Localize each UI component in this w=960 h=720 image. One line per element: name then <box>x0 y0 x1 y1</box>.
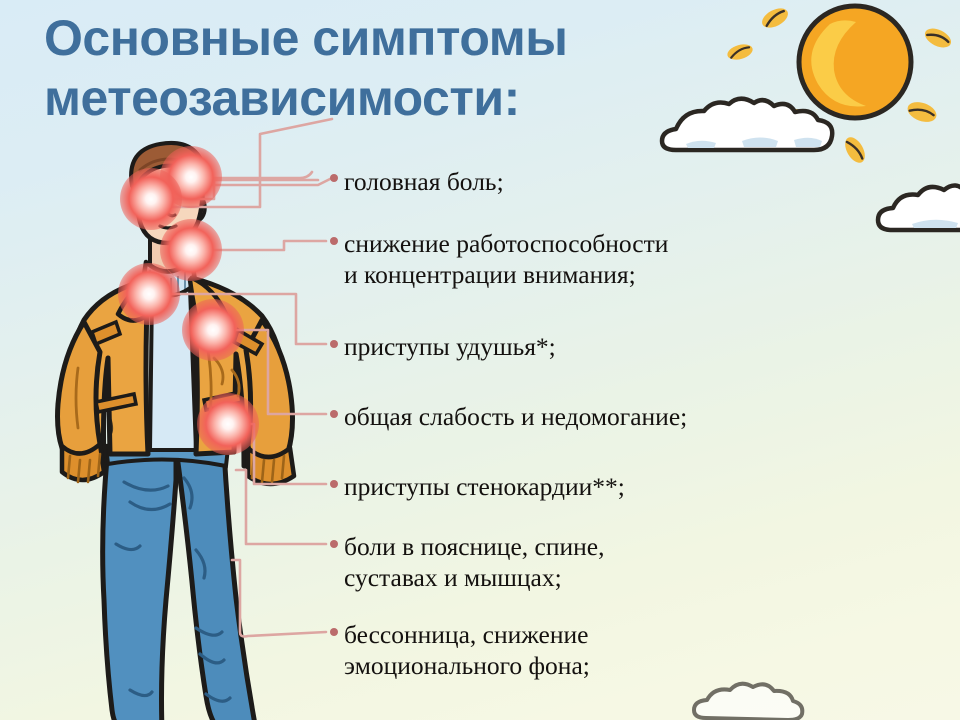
pain-marker-shoulder <box>118 263 180 325</box>
pain-marker-head-side <box>120 168 182 230</box>
title-line-1: Основные симптомы <box>44 8 684 68</box>
bullet-dot-1 <box>330 174 338 182</box>
symptom-item-1: головная боль; <box>344 166 504 197</box>
pain-marker-lower-back <box>197 393 259 455</box>
symptom-item-5: приступы стенокардии**; <box>344 471 625 502</box>
title-line-2: метеозависимости: <box>44 68 684 128</box>
bullet-dot-4 <box>330 410 338 418</box>
infographic-poster: Основные симптомы метеозависимости: <box>0 0 960 720</box>
symptom-item-7: бессонница, снижение эмоционального фона… <box>344 619 590 681</box>
bullet-dot-6 <box>330 540 338 548</box>
bullet-dot-2 <box>330 237 338 245</box>
symptom-item-3: приступы удушья*; <box>344 331 556 362</box>
bullet-dot-7 <box>330 628 338 636</box>
bullet-dot-5 <box>330 480 338 488</box>
symptom-item-6: боли в пояснице, спине, суставах и мышца… <box>344 531 604 593</box>
pain-marker-chest <box>182 299 244 361</box>
symptom-item-4: общая слабость и недомогание; <box>344 401 687 432</box>
bullet-dot-3 <box>330 340 338 348</box>
symptom-item-2: снижение работоспособности и концентраци… <box>344 228 668 290</box>
poster-title: Основные симптомы метеозависимости: <box>44 8 684 128</box>
